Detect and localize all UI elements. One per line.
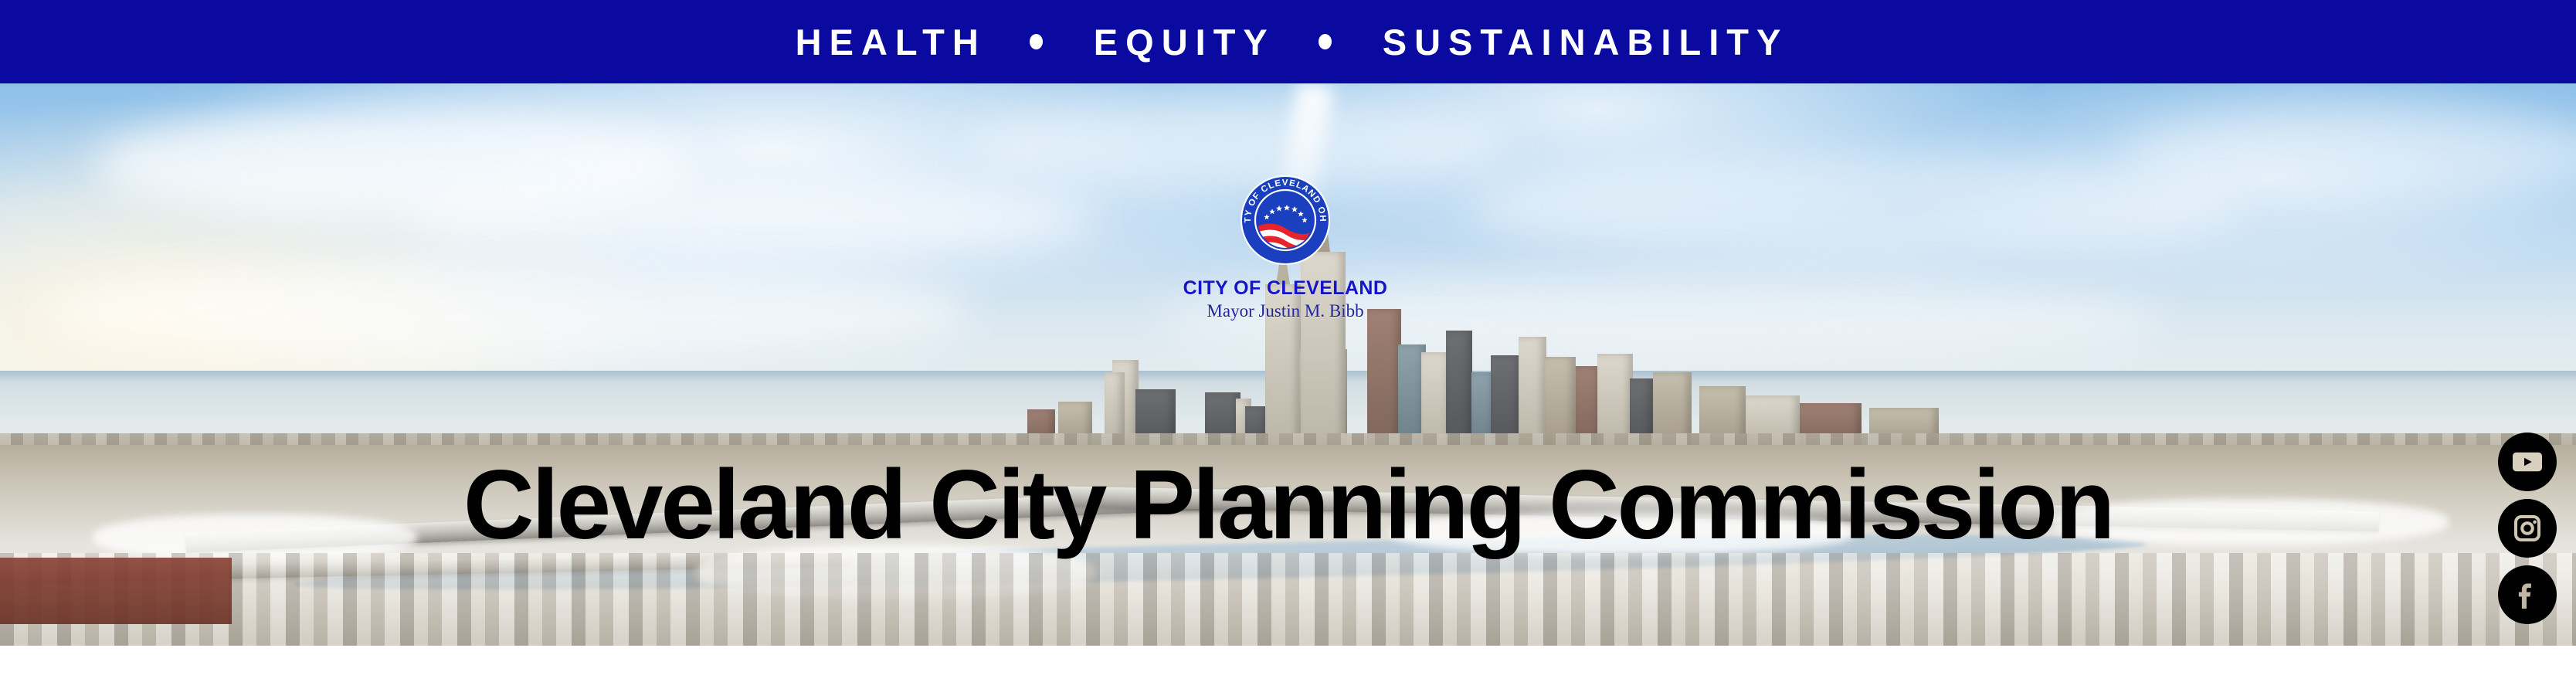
tagline-strip: HEALTH EQUITY SUSTAINABILITY [788,24,1789,60]
social-link-facebook[interactable] [2498,565,2557,624]
foreground-neighborhood [0,553,2576,646]
bottom-white-strip [0,646,2576,682]
tagline-bullet-dot-2 [1319,34,1332,49]
facebook-icon [2510,578,2544,612]
city-name-label: CITY OF CLEVELAND [1161,278,1410,298]
tagline-word-sustainability: SUSTAINABILITY [1375,24,1789,60]
social-link-youtube[interactable] [2498,433,2557,491]
banner-page: HEALTH EQUITY SUSTAINABILITY [0,0,2576,682]
city-of-cleveland-seal-icon: CITY OF CLEVELAND OHIO [1240,175,1331,266]
youtube-icon [2510,445,2544,479]
brick-building [0,558,232,624]
mayor-name-label: Mayor Justin M. Bibb [1161,302,1410,321]
tagline-word-health: HEALTH [788,24,986,60]
social-link-instagram[interactable] [2498,499,2557,558]
tagline-bullet-dot-1 [1030,34,1043,49]
page-title: Cleveland City Planning Commission [0,456,2576,554]
instagram-icon [2510,511,2544,545]
hero-photo: CITY OF CLEVELAND OHIO [0,83,2576,646]
top-tagline-banner: HEALTH EQUITY SUSTAINABILITY [0,0,2576,83]
social-links [2498,433,2557,624]
tagline-word-equity: EQUITY [1086,24,1275,60]
city-branding: CITY OF CLEVELAND OHIO [1161,175,1410,321]
